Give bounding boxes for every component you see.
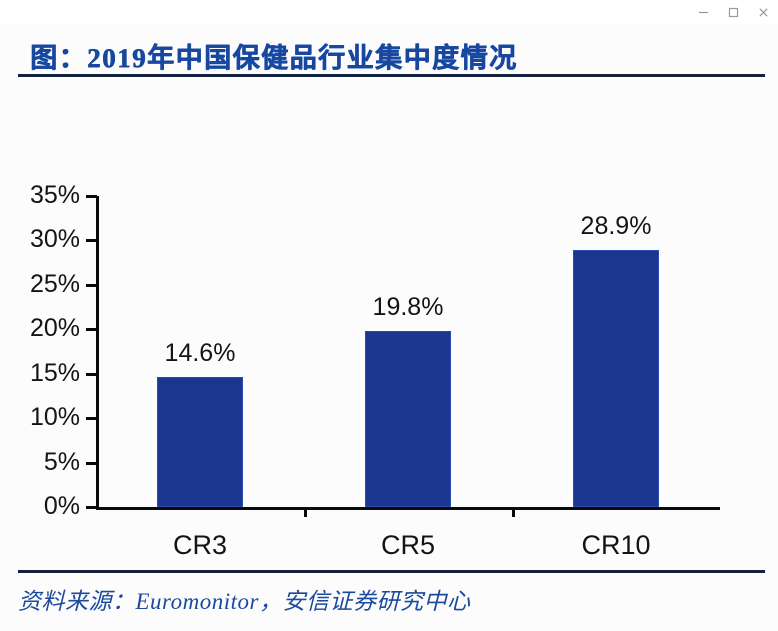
figure-card: 图：2019年中国保健品行业集中度情况 35%30%25%20%15%10%5%… (0, 24, 778, 631)
y-axis-tick-label: 25% (14, 272, 80, 297)
y-axis-tick (86, 462, 97, 465)
close-icon (757, 6, 770, 19)
y-axis-tick (86, 195, 97, 198)
y-axis-tick-label: 0% (14, 494, 80, 519)
x-axis-tick (512, 507, 515, 517)
y-axis-tick (86, 239, 97, 242)
chart-plot-area: 35%30%25%20%15%10%5%0% 14.6%19.8%28.9% C… (0, 80, 778, 550)
title-divider (18, 74, 765, 77)
y-axis-tick (86, 417, 97, 420)
x-axis-category-label: CR10 (536, 532, 696, 559)
y-axis-tick-label: 5% (14, 450, 80, 475)
y-axis-tick-label: 30% (14, 227, 80, 252)
x-axis-category-label: CR5 (328, 532, 488, 559)
maximize-button[interactable] (718, 1, 748, 23)
bar-value-label: 19.8% (328, 295, 488, 320)
minimize-button[interactable] (688, 1, 718, 23)
bar[interactable] (157, 377, 243, 507)
x-axis-tick (304, 507, 307, 517)
maximize-icon (727, 6, 740, 19)
bar-value-label: 28.9% (536, 214, 696, 239)
y-axis-tick-label: 35% (14, 183, 80, 208)
application-window: 图：2019年中国保健品行业集中度情况 35%30%25%20%15%10%5%… (0, 0, 778, 631)
footer-divider (18, 570, 765, 573)
bar[interactable] (365, 331, 451, 507)
x-axis-category-label: CR3 (120, 532, 280, 559)
close-button[interactable] (748, 1, 778, 23)
x-axis-line (96, 507, 720, 510)
y-axis-tick-label: 10% (14, 405, 80, 430)
y-axis-tick (86, 328, 97, 331)
y-axis-tick (86, 284, 97, 287)
y-axis-tick-label: 20% (14, 316, 80, 341)
window-titlebar (0, 0, 778, 24)
page-title: 图：2019年中国保健品行业集中度情况 (30, 36, 518, 75)
y-axis-tick-label: 15% (14, 361, 80, 386)
bar-value-label: 14.6% (120, 341, 280, 366)
bar[interactable] (573, 250, 659, 507)
minimize-icon (697, 6, 710, 19)
y-axis-tick (86, 506, 97, 509)
y-axis-tick (86, 373, 97, 376)
source-note: 资料来源：Euromonitor，安信证券研究中心 (18, 582, 471, 616)
